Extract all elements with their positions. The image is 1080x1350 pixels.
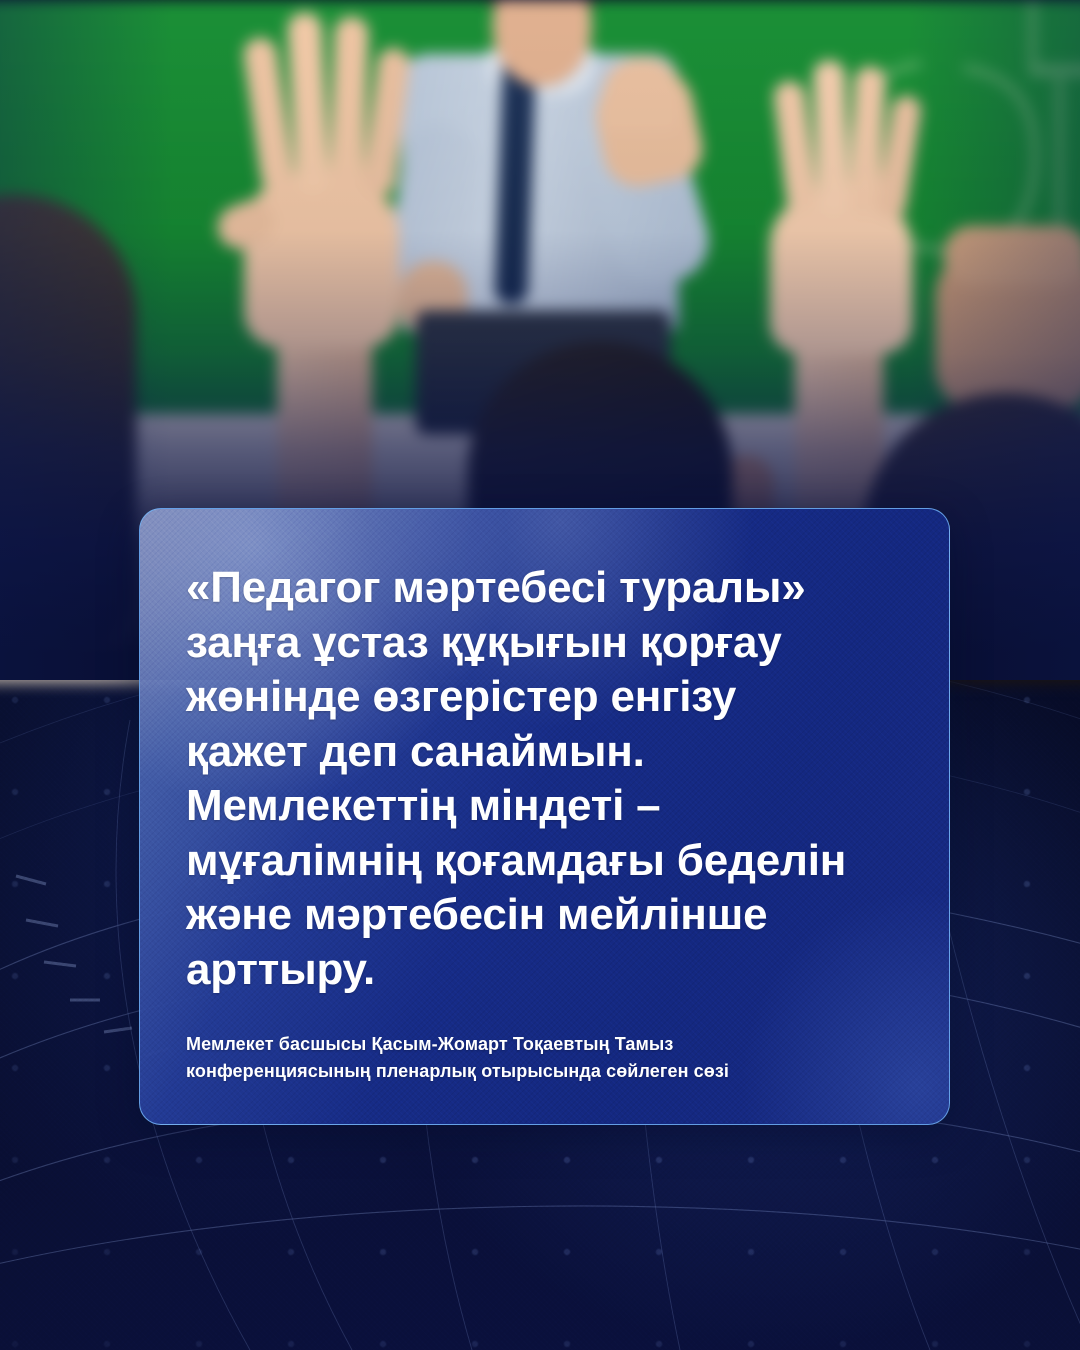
quote-attribution: Мемлекет басшысы Қасым-Жомарт Тоқаевтың … [186,1031,886,1085]
quote-card: «Педагог мәртебесі туралы» заңға ұстаз қ… [139,508,950,1125]
quote-card-content: «Педагог мәртебесі туралы» заңға ұстаз қ… [140,509,949,1124]
quote-text: «Педагог мәртебесі туралы» заңға ұстаз қ… [186,561,903,997]
social-post-canvas: «Педагог мәртебесі туралы» заңға ұстаз қ… [0,0,1080,1350]
